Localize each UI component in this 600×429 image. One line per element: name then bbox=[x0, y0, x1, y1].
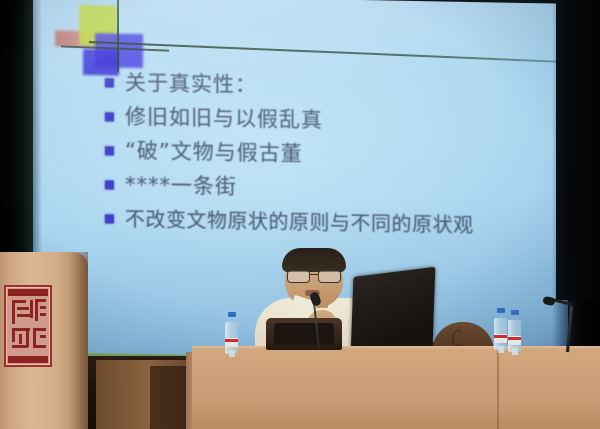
slide-bullet-text: 关于真实性： bbox=[125, 72, 257, 95]
bottle-label-stripe bbox=[508, 337, 521, 340]
bottle-neck bbox=[498, 346, 504, 353]
slide-bullet-text: “破”文物与假古董 bbox=[125, 140, 303, 164]
glasses-icon bbox=[286, 270, 342, 281]
seal-bottom-bar bbox=[8, 356, 48, 363]
right-wall-shadow bbox=[556, 0, 600, 300]
bottle-cap bbox=[228, 312, 236, 317]
bullet-square-icon bbox=[105, 112, 114, 121]
water-bottle bbox=[225, 312, 238, 354]
lecture-photo-scene: 关于真实性： 修旧如旧与以假乱真 “破”文物与假古董 ****一条街 不改变文物… bbox=[0, 0, 600, 429]
seal-top-bar bbox=[8, 289, 48, 296]
water-bottle bbox=[494, 308, 507, 350]
bottle-cap bbox=[511, 310, 519, 315]
bullet-square-icon bbox=[105, 214, 114, 223]
left-wall-shadow bbox=[0, 0, 36, 262]
bullet-square-icon bbox=[105, 146, 114, 155]
bottle-label-stripe bbox=[225, 339, 238, 342]
speakers-desk bbox=[192, 349, 600, 429]
slide-bullet-text: ****一条街 bbox=[125, 174, 237, 197]
glasses-right-lens bbox=[318, 270, 341, 283]
slide-bullet-text: 不改变文物原状的原则与不同的原状观 bbox=[125, 209, 474, 235]
bottle-label-stripe bbox=[494, 335, 507, 338]
logo-vertical-line bbox=[117, 0, 119, 72]
slide-bullet-text: 修旧如旧与以假乱真 bbox=[125, 106, 323, 131]
bottle-neck bbox=[512, 348, 518, 355]
pillar-shadow bbox=[70, 252, 88, 429]
chair-hook bbox=[452, 330, 464, 346]
slide-header-rule bbox=[89, 41, 589, 64]
desk-panel-seam bbox=[497, 349, 499, 429]
laptop-front-screen bbox=[274, 323, 334, 345]
bottle-neck bbox=[229, 350, 235, 357]
bullet-square-icon bbox=[105, 78, 114, 87]
glasses-left-lens bbox=[287, 270, 310, 283]
bottle-cap bbox=[497, 308, 505, 313]
bullet-square-icon bbox=[105, 180, 114, 189]
chinese-seal-stamp bbox=[4, 285, 52, 367]
slide-bullet-list: 关于真实性： 修旧如旧与以假乱真 “破”文物与假古董 ****一条街 不改变文物… bbox=[105, 65, 585, 244]
podium-pillar bbox=[0, 252, 88, 429]
presenter-hair bbox=[282, 248, 346, 272]
water-bottle bbox=[508, 310, 521, 352]
